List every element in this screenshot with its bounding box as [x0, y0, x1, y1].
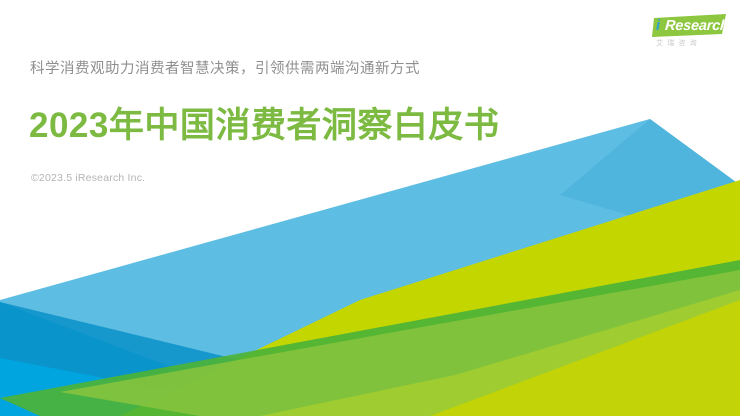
logo-wordmark: Research	[664, 17, 729, 35]
cover-subtitle: 科学消费观助力消费者智慧决策，引领供需两端沟通新方式	[30, 57, 420, 78]
iresearch-logo: i Research 艾瑞咨询	[652, 14, 730, 54]
logo-i-letter: i	[656, 17, 660, 35]
copyright-notice: ©2023.5 iResearch Inc.	[31, 172, 145, 184]
cover-title: 2023年中国消费者洞察白皮书	[29, 106, 499, 146]
logo-chinese-name: 艾瑞咨询	[656, 38, 701, 48]
report-cover: 科学消费观助力消费者智慧决策，引领供需两端沟通新方式 2023年中国消费者洞察白…	[0, 0, 740, 416]
